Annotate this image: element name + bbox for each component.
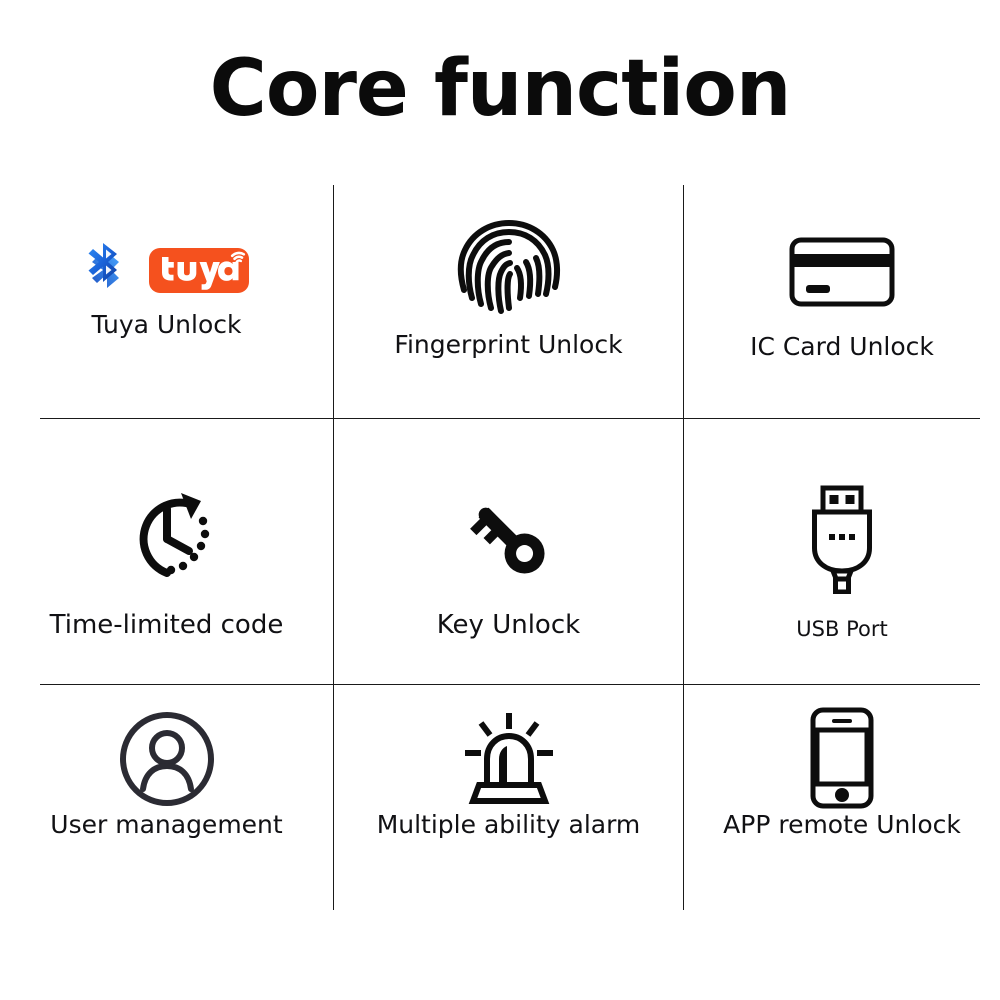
user-circle-icon-wrap: [0, 708, 333, 810]
feature-label-tuya-unlock: Tuya Unlock: [0, 310, 333, 339]
fingerprint-icon: [457, 218, 561, 318]
siren-alarm-icon: [457, 709, 561, 807]
user-circle-icon: [117, 709, 217, 809]
tuya-bluetooth-icon-wrap: [0, 238, 333, 302]
ic-card-icon-wrap: [684, 232, 1000, 312]
core-function-infographic: Core function: [0, 0, 1000, 1000]
usb-plug-icon: [804, 484, 880, 594]
grid-divider-horizontal-1: [40, 418, 980, 419]
tuya-logo-badge: [149, 248, 249, 293]
grid-divider-horizontal-2: [40, 684, 980, 685]
feature-cell-multiple-ability-alarm[interactable]: Multiple ability alarm: [334, 686, 683, 910]
usb-plug-icon-wrap: [684, 482, 1000, 596]
smartphone-icon: [808, 706, 876, 810]
feature-label-app-remote-unlock: APP remote Unlock: [684, 810, 1000, 839]
feature-label-user-management: User management: [0, 810, 333, 839]
siren-alarm-icon-wrap: [334, 708, 683, 808]
feature-cell-fingerprint-unlock[interactable]: Fingerprint Unlock: [334, 190, 683, 418]
feature-label-fingerprint-unlock: Fingerprint Unlock: [334, 330, 683, 359]
feature-cell-key-unlock[interactable]: Key Unlock: [334, 420, 683, 684]
bluetooth-icon: [85, 242, 131, 298]
feature-cell-user-management[interactable]: User management: [0, 686, 333, 910]
feature-cell-usb-port[interactable]: USB Port: [684, 420, 1000, 684]
key-icon: [459, 487, 559, 589]
tuya-wordmark-icon: [149, 248, 249, 293]
page-title: Core function: [0, 48, 1000, 130]
smartphone-icon-wrap: [684, 706, 1000, 810]
feature-cell-time-limited-code[interactable]: Time-limited code: [0, 420, 333, 684]
feature-label-ic-card-unlock: IC Card Unlock: [684, 332, 1000, 361]
ic-card-icon: [789, 237, 895, 307]
feature-label-key-unlock: Key Unlock: [334, 610, 683, 640]
feature-cell-ic-card-unlock[interactable]: IC Card Unlock: [684, 190, 1000, 418]
fingerprint-icon-wrap: [334, 218, 683, 318]
clock-arrow-icon-wrap: [0, 482, 333, 588]
feature-cell-tuya-unlock[interactable]: Tuya Unlock: [0, 190, 333, 418]
feature-label-multiple-ability-alarm: Multiple ability alarm: [334, 810, 683, 839]
key-icon-wrap: [334, 486, 683, 590]
feature-cell-app-remote-unlock[interactable]: APP remote Unlock: [684, 686, 1000, 910]
feature-label-time-limited-code: Time-limited code: [0, 610, 333, 640]
clock-arrow-icon: [115, 483, 219, 587]
feature-label-usb-port: USB Port: [684, 617, 1000, 641]
